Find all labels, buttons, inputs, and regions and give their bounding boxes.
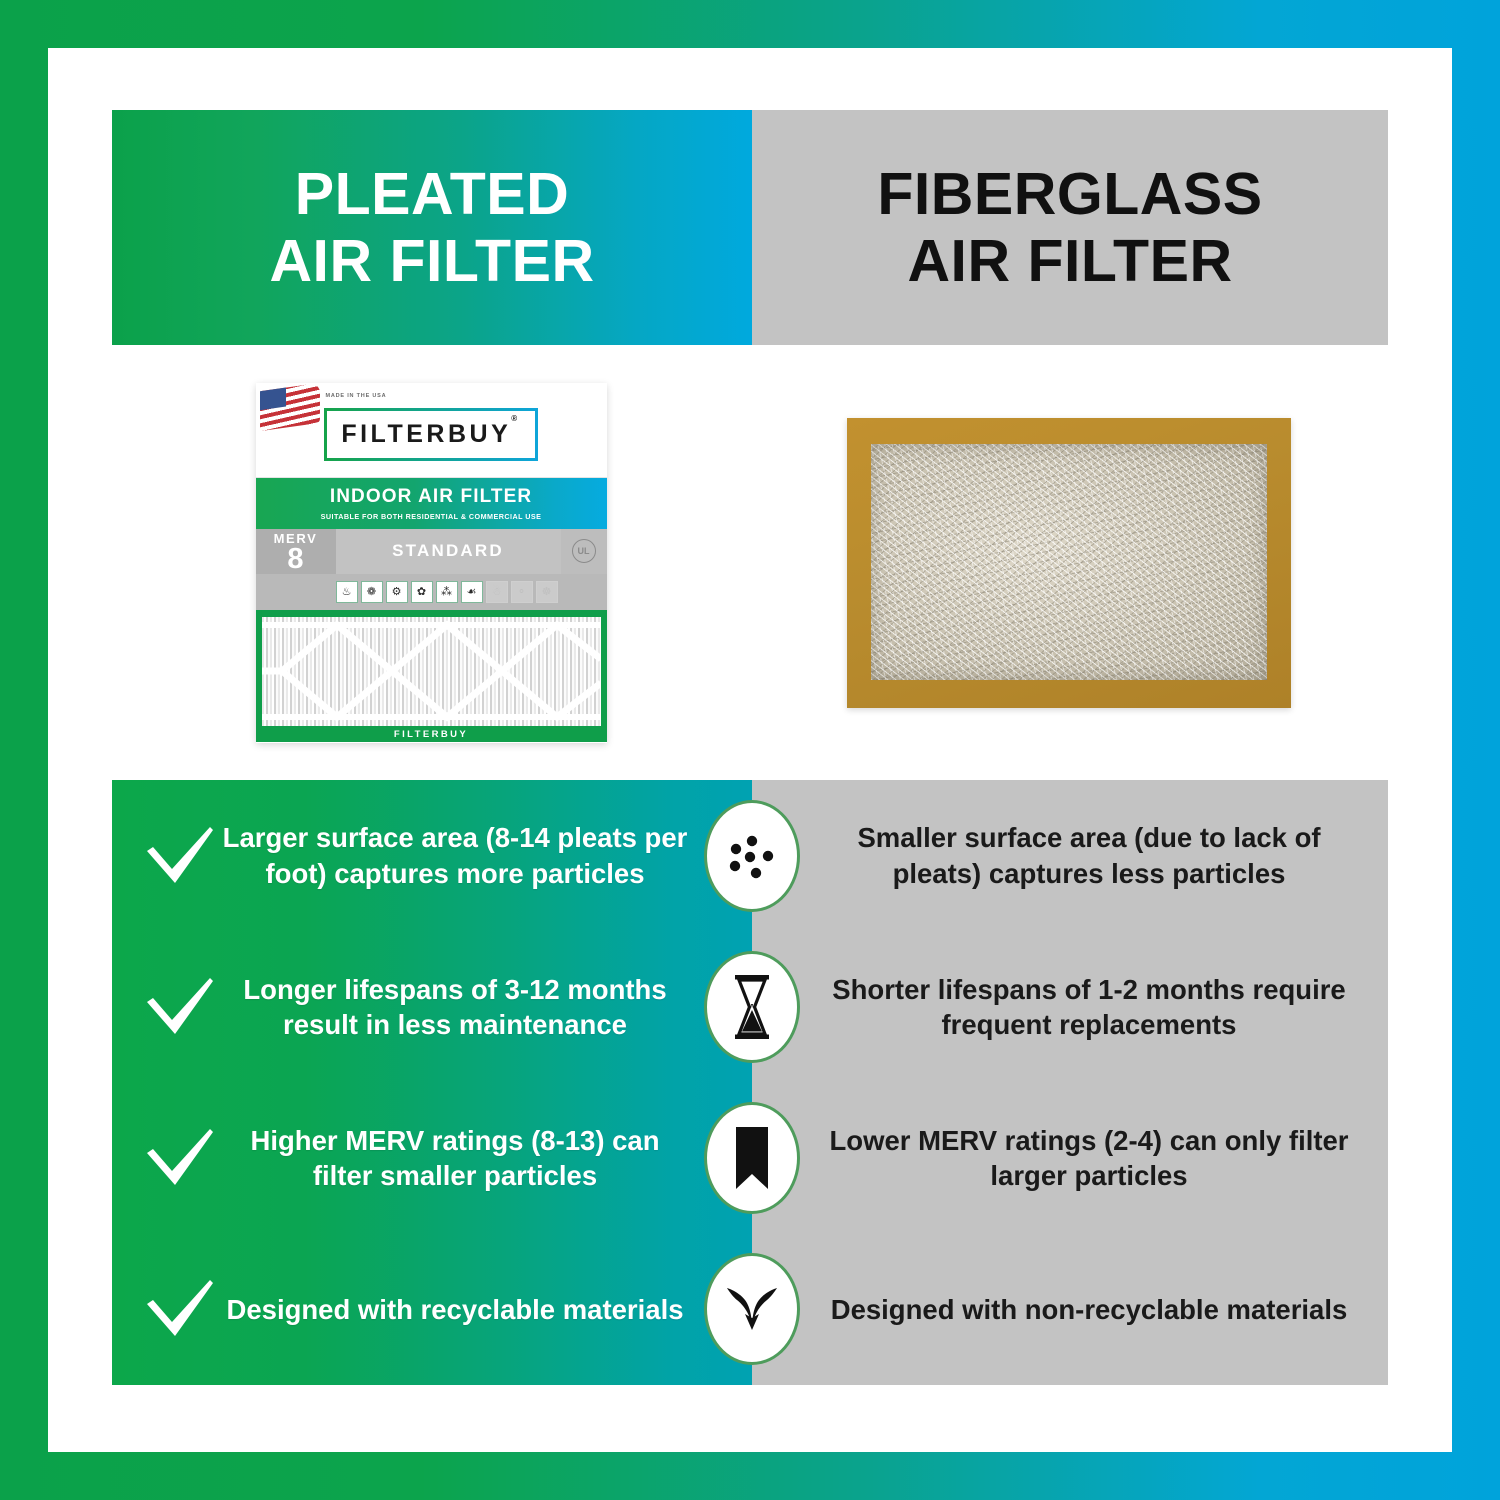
bacteria-icon: ⚬ bbox=[511, 581, 533, 603]
row-right-text: Lower MERV ratings (2-4) can only filter… bbox=[820, 1123, 1358, 1193]
box-banner: INDOOR AIR FILTER SUITABLE FOR BOTH RESI… bbox=[256, 478, 607, 529]
header-fiberglass: FIBERGLASS AIR FILTER bbox=[752, 110, 1388, 345]
pet-dander-icon: ☙ bbox=[461, 581, 483, 603]
row-right-cell: Smaller surface area (due to lack of ple… bbox=[752, 820, 1388, 890]
merv-value: 8 bbox=[287, 546, 303, 574]
row-left-text: Designed with recyclable materials bbox=[222, 1292, 688, 1327]
row-right-text: Designed with non-recyclable materials bbox=[831, 1292, 1348, 1327]
mold-icon: ✿ bbox=[411, 581, 433, 603]
comparison-row: Longer lifespans of 3-12 months result i… bbox=[112, 931, 1388, 1082]
dustmite-icon: ❁ bbox=[361, 581, 383, 603]
row-left-cell: Longer lifespans of 3-12 months result i… bbox=[112, 972, 752, 1042]
comparison-rows: Larger surface area (8-14 pleats per foo… bbox=[112, 780, 1388, 1385]
fiberglass-media-texture bbox=[871, 444, 1267, 680]
header-band: PLEATED AIR FILTER FIBERGLASS AIR FILTER bbox=[112, 110, 1388, 345]
capability-icon-strip: ♨ ❁ ⚙ ✿ ⁂ ☙ ☃ ⚬ ☸ bbox=[256, 574, 607, 610]
grade-label: STANDARD bbox=[336, 529, 561, 574]
row-left-text: Larger surface area (8-14 pleats per foo… bbox=[222, 820, 688, 890]
row-right-cell: Designed with non-recyclable materials bbox=[752, 1292, 1388, 1327]
row-left-cell: Larger surface area (8-14 pleats per foo… bbox=[112, 820, 752, 890]
pleat-texture bbox=[262, 617, 601, 726]
box-banner-main: INDOOR AIR FILTER bbox=[330, 486, 532, 508]
row-left-text: Longer lifespans of 3-12 months result i… bbox=[222, 972, 688, 1042]
comparison-row: Larger surface area (8-14 pleats per foo… bbox=[112, 780, 1388, 931]
checkmark-icon bbox=[138, 1127, 222, 1189]
filterbuy-box-image: MADE IN THE USA FILTERBUY® INDOOR AIR FI… bbox=[256, 383, 607, 743]
fiberglass-filter-image bbox=[847, 418, 1291, 708]
row-left-cell: Higher MERV ratings (8-13) can filter sm… bbox=[112, 1123, 752, 1193]
infographic-canvas: PLEATED AIR FILTER FIBERGLASS AIR FILTER… bbox=[48, 48, 1452, 1452]
header-pleated-title: PLEATED AIR FILTER bbox=[269, 161, 594, 293]
comparison-row: Designed with recyclable materials Desig… bbox=[112, 1234, 1388, 1385]
hourglass-icon bbox=[721, 976, 783, 1038]
comparison-row: Higher MERV ratings (8-13) can filter sm… bbox=[112, 1083, 1388, 1234]
row-right-text: Smaller surface area (due to lack of ple… bbox=[820, 820, 1358, 890]
checkmark-icon bbox=[138, 825, 222, 887]
ul-certification-icon: UL bbox=[572, 539, 596, 563]
row-badge bbox=[704, 1253, 800, 1365]
row-left-text: Higher MERV ratings (8-13) can filter sm… bbox=[222, 1123, 688, 1193]
fiberglass-product-cell bbox=[750, 345, 1388, 780]
box-banner-sub: SUITABLE FOR BOTH RESIDENTIAL & COMMERCI… bbox=[321, 512, 542, 521]
virus-icon: ☸ bbox=[536, 581, 558, 603]
support-grid-icon bbox=[262, 617, 601, 726]
ul-cert-area: UL bbox=[561, 529, 607, 574]
box-bottom-brand: FILTERBUY bbox=[256, 729, 607, 740]
merv-badge: MERV 8 bbox=[256, 529, 336, 574]
bookmark-ribbon-icon bbox=[721, 1127, 783, 1189]
product-image-row: MADE IN THE USA FILTERBUY® INDOOR AIR FI… bbox=[112, 345, 1388, 780]
checkmark-icon bbox=[138, 1278, 222, 1340]
row-badge bbox=[704, 951, 800, 1063]
pollen-icon: ⚙ bbox=[386, 581, 408, 603]
usa-flag-icon bbox=[260, 383, 320, 431]
leaf-recycle-icon bbox=[721, 1278, 783, 1340]
row-badge bbox=[704, 1102, 800, 1214]
header-fiberglass-title: FIBERGLASS AIR FILTER bbox=[877, 161, 1262, 293]
box-top-section: MADE IN THE USA FILTERBUY® bbox=[256, 383, 607, 478]
particles-dots-icon bbox=[721, 825, 783, 887]
filterbuy-logo-text: FILTERBUY® bbox=[341, 420, 520, 449]
gradient-frame: PLEATED AIR FILTER FIBERGLASS AIR FILTER… bbox=[0, 0, 1500, 1500]
row-right-text: Shorter lifespans of 1-2 months require … bbox=[820, 972, 1358, 1042]
filterbuy-logo: FILTERBUY® bbox=[324, 408, 537, 461]
row-right-cell: Shorter lifespans of 1-2 months require … bbox=[752, 972, 1388, 1042]
box-spec-section: MERV 8 STANDARD UL ♨ ❁ ⚙ ✿ bbox=[256, 529, 607, 610]
box-spec-top: MERV 8 STANDARD UL bbox=[256, 529, 607, 574]
smoke-icon: ☃ bbox=[486, 581, 508, 603]
checkmark-icon bbox=[138, 976, 222, 1038]
box-filter-photo: FILTERBUY bbox=[256, 610, 607, 742]
comparison-panel: Larger surface area (8-14 pleats per foo… bbox=[112, 780, 1388, 1385]
pleated-product-cell: MADE IN THE USA FILTERBUY® INDOOR AIR FI… bbox=[112, 345, 750, 780]
broom-icon: ♨ bbox=[336, 581, 358, 603]
row-left-cell: Designed with recyclable materials bbox=[112, 1278, 752, 1340]
row-right-cell: Lower MERV ratings (2-4) can only filter… bbox=[752, 1123, 1388, 1193]
header-pleated: PLEATED AIR FILTER bbox=[112, 110, 752, 345]
made-in-usa-label: MADE IN THE USA bbox=[326, 392, 387, 400]
lint-icon: ⁂ bbox=[436, 581, 458, 603]
row-badge bbox=[704, 800, 800, 912]
